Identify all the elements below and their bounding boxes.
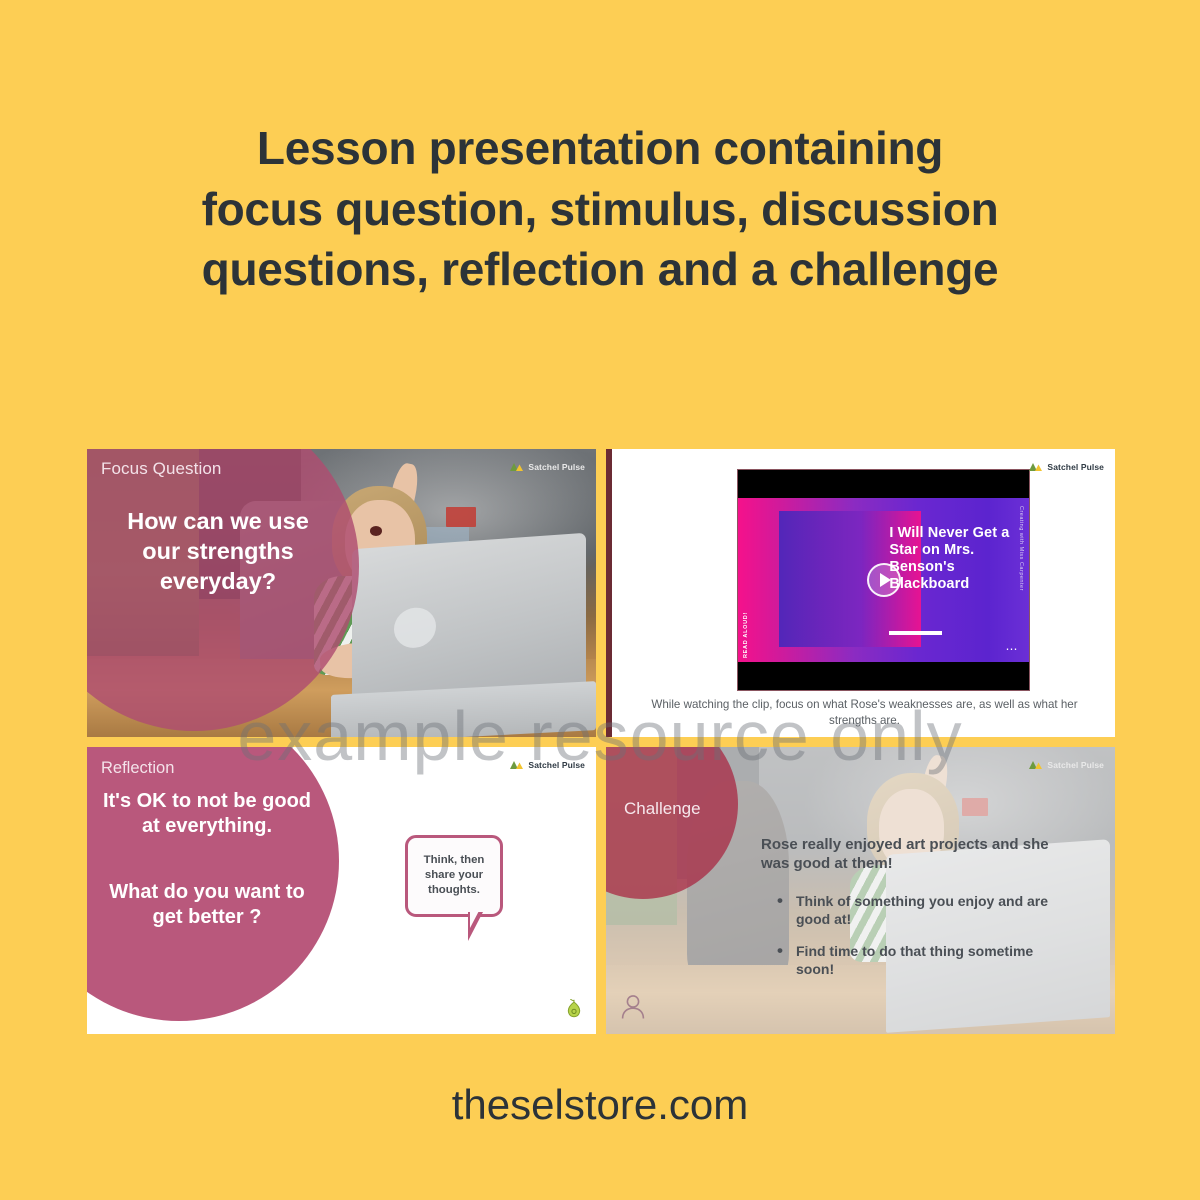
slide-stimulus[interactable]: I Will Never Get a Star on Mrs. Benson's… (606, 449, 1115, 737)
reflection-question: What do you want to get better ? (95, 880, 319, 930)
satchel-pulse-logo: Satchel Pulse (510, 756, 585, 774)
list-item: Think of something you enjoy and are goo… (774, 892, 1064, 928)
brand-name: Satchel Pulse (1047, 760, 1104, 770)
mountains-icon (510, 756, 524, 774)
speech-bubble-text: Think, then share your thoughts. (408, 838, 500, 914)
video-channel-name: Creating with Miss Carpenter (1018, 506, 1024, 591)
satchel-pulse-logo: Satchel Pulse (1029, 458, 1104, 476)
play-icon[interactable] (867, 563, 901, 597)
slide-challenge[interactable]: Challenge Rose really enjoyed art projec… (606, 747, 1115, 1035)
speech-bubble: Think, then share your thoughts. (405, 835, 503, 917)
page-title-line-2: focus question, stimulus, discussion (110, 179, 1090, 240)
brand-name: Satchel Pulse (528, 760, 585, 770)
slide-kicker-reflection: Reflection (101, 759, 174, 778)
mountains-icon (1029, 458, 1043, 476)
mountains-icon (510, 458, 524, 476)
page-title-line-3: questions, reflection and a challenge (110, 239, 1090, 300)
challenge-lead-text: Rose really enjoyed art projects and she… (761, 835, 1061, 874)
speech-bubble-tail (468, 912, 483, 941)
video-title: I Will Never Get a Star on Mrs. Benson's… (889, 525, 1017, 594)
person-icon (620, 993, 646, 1024)
mountains-icon (1029, 756, 1043, 774)
brand-name: Satchel Pulse (1047, 462, 1104, 472)
challenge-bullet-list: Think of something you enjoy and are goo… (774, 892, 1064, 993)
video-read-aloud-badge: READ ALOUD! (743, 612, 749, 658)
brand-name: Satchel Pulse (528, 462, 585, 472)
more-options-icon[interactable]: ⋯ (1006, 643, 1020, 655)
slide-kicker-challenge: Challenge (624, 799, 701, 819)
focus-question-text: How can we use our strengths everyday? (111, 507, 325, 597)
seed-icon (566, 999, 582, 1024)
stimulus-caption: While watching the clip, focus on what R… (636, 697, 1093, 729)
video-player[interactable]: I Will Never Get a Star on Mrs. Benson's… (737, 469, 1030, 691)
slide-kicker-focus-question: Focus Question (101, 459, 221, 479)
slide-left-accent-bar (606, 449, 612, 737)
slide-reflection[interactable]: Reflection It's OK to not be good at eve… (87, 747, 596, 1035)
page-title-line-1: Lesson presentation containing (110, 118, 1090, 179)
slide-grid: Focus Question How can we use our streng… (87, 449, 1115, 1034)
page-title: Lesson presentation containing focus que… (0, 118, 1200, 300)
satchel-pulse-logo: Satchel Pulse (510, 458, 585, 476)
satchel-pulse-logo: Satchel Pulse (1029, 756, 1104, 774)
footer-url: theselstore.com (0, 1081, 1200, 1129)
slide-focus-question[interactable]: Focus Question How can we use our streng… (87, 449, 596, 737)
list-item: Find time to do that thing sometime soon… (774, 942, 1064, 978)
reflection-statement: It's OK to not be good at everything. (99, 789, 315, 839)
